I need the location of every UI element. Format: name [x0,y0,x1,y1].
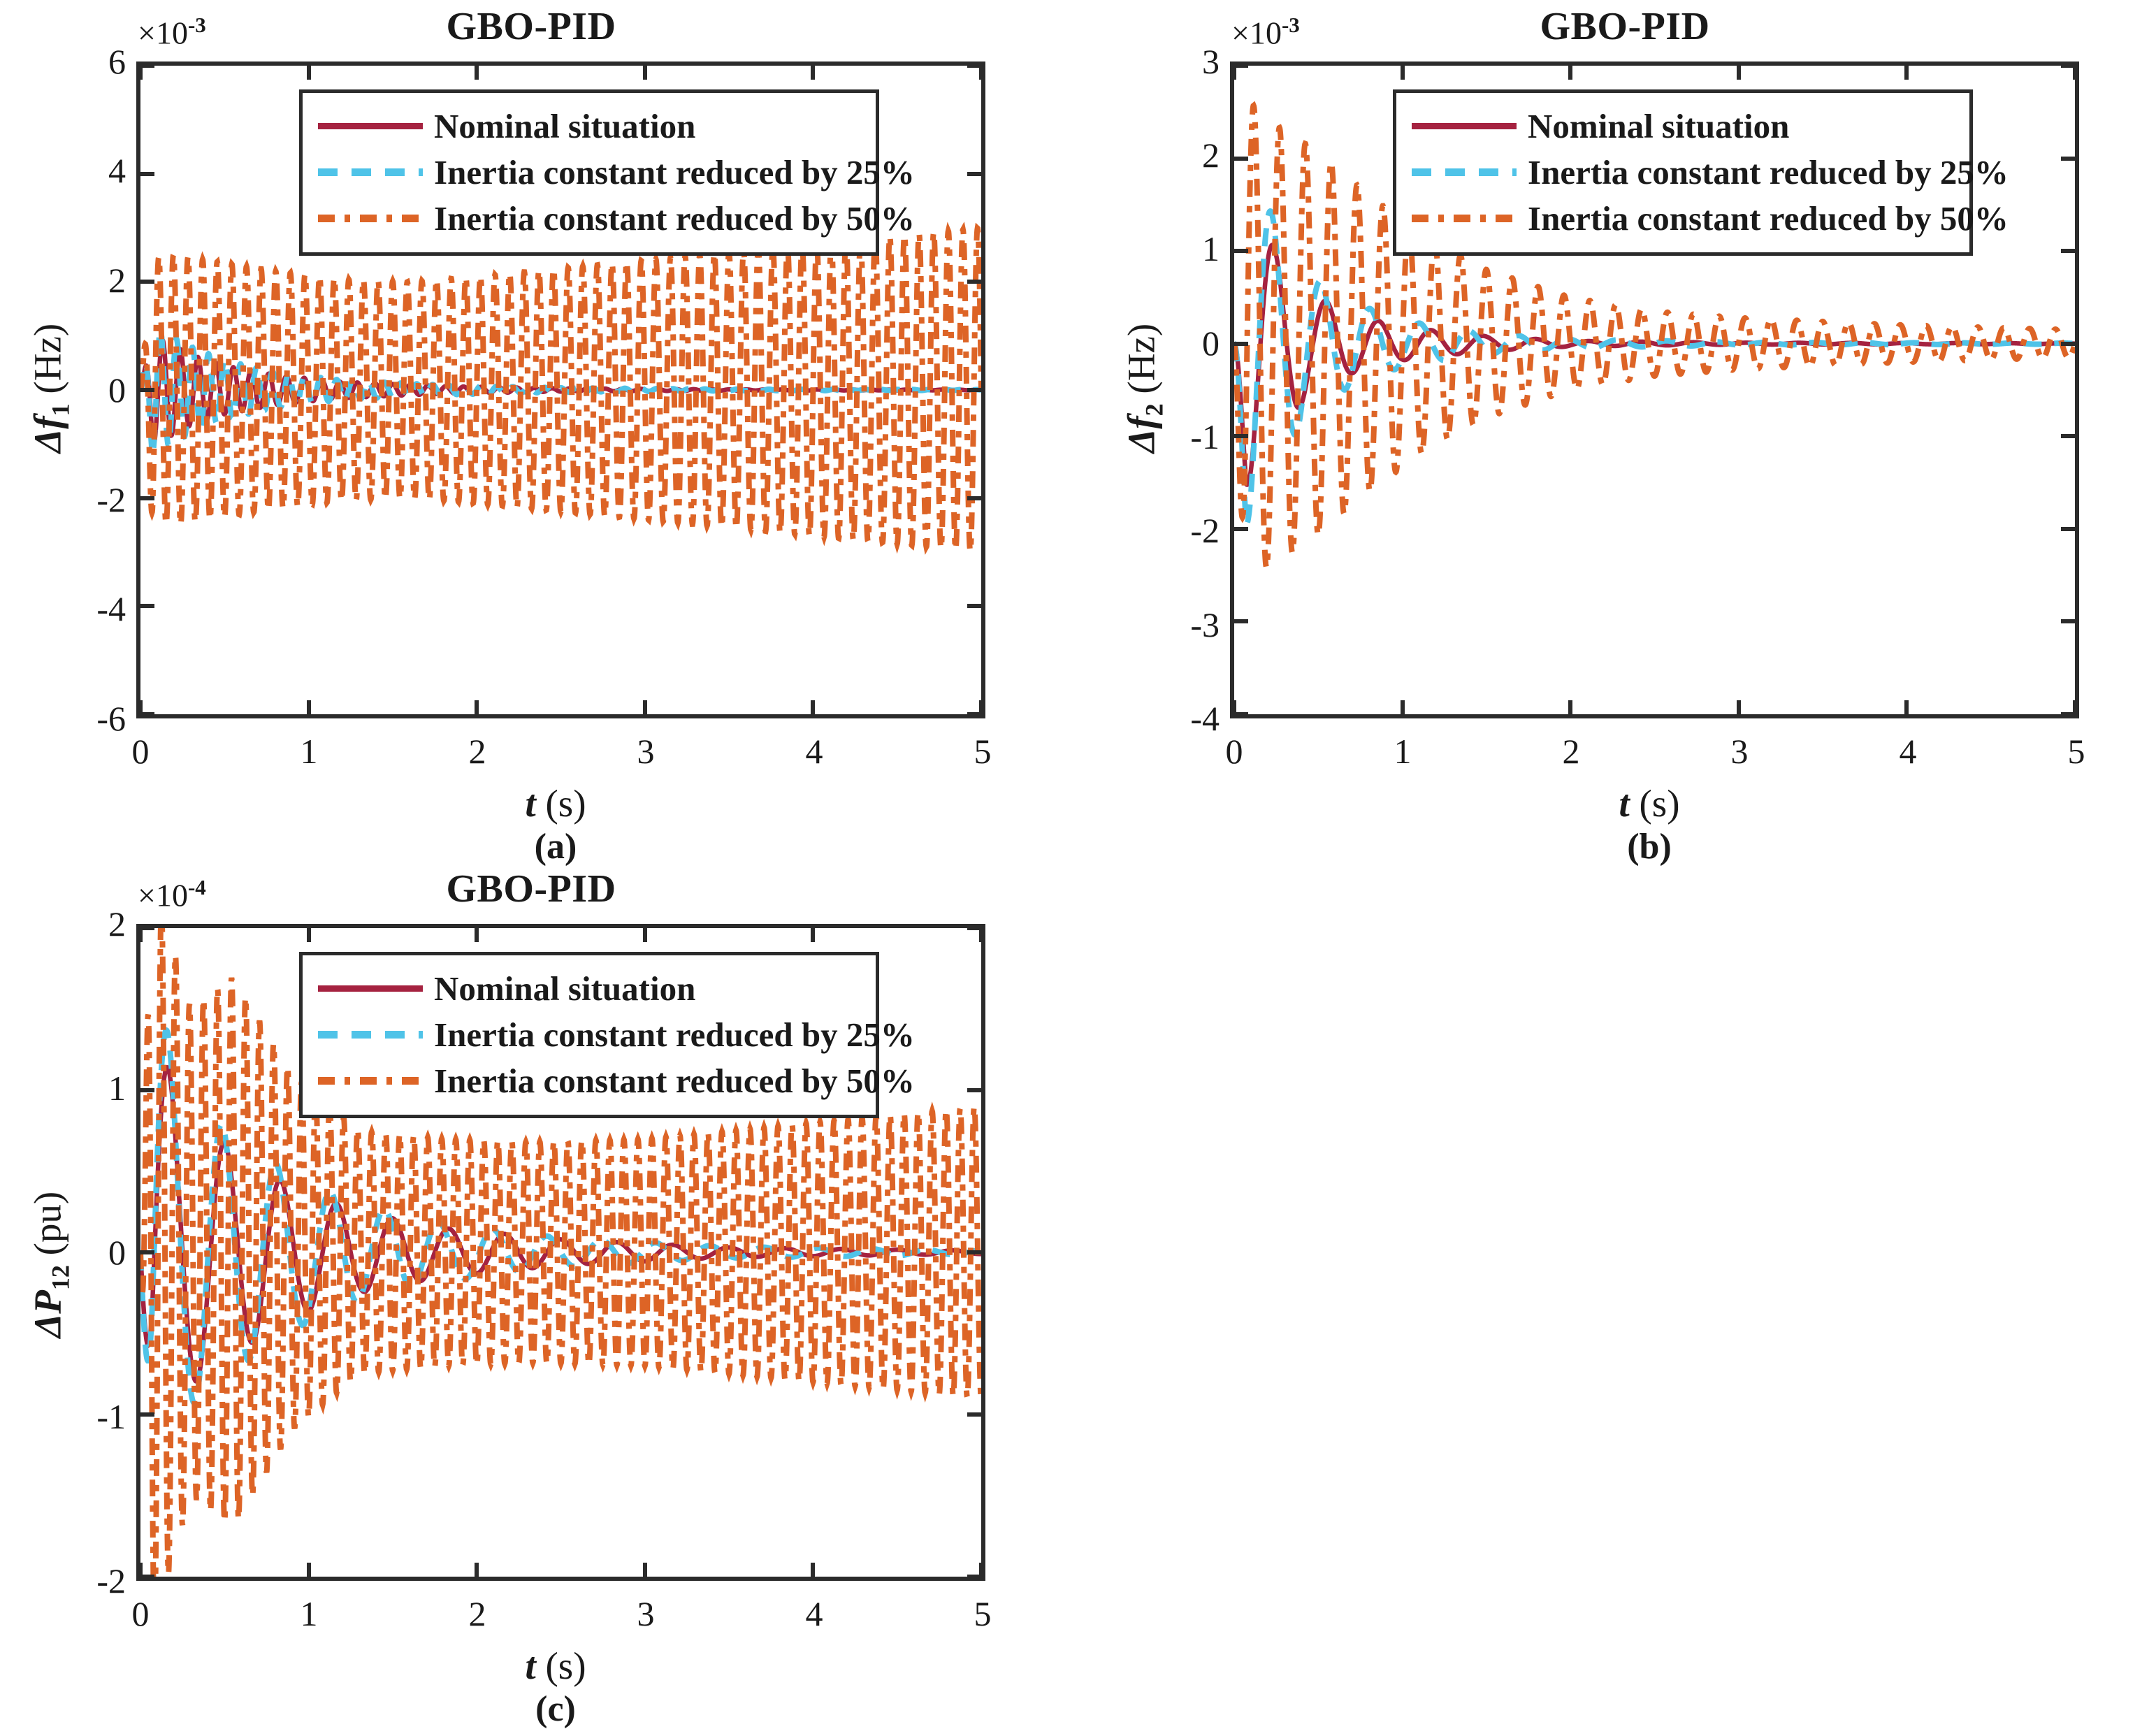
panel-c-exponent: ×10-4 [138,875,206,913]
axis-tick [140,172,154,176]
axis-tick [967,496,981,500]
axis-tick [475,66,479,80]
panel-c-exponent-prefix: ×10 [138,877,188,913]
axis-tick [1234,619,1248,623]
panel-a-xlabel-unit: (s) [545,782,586,825]
panel-c-xlabel: t (s) [119,1644,992,1688]
axis-tick [1232,66,1236,80]
axis-tick [475,700,479,714]
legend-entry: Nominal situation [318,103,860,149]
panel-b-ylabel: Δf2 (Hz) [1120,256,1169,521]
legend-swatch-nominal [318,985,423,992]
panel-a-xtick: 2 [469,731,486,772]
panel-b-ytick: -4 [1094,698,1220,739]
axis-tick [307,1563,311,1577]
panel-c-ylabel-symbol: ΔP [27,1290,69,1338]
panel-a-xtick: 5 [974,731,992,772]
axis-tick [967,1250,981,1254]
axis-tick [967,1575,981,1579]
legend-label: Inertia constant reduced by 25% [1528,155,2009,189]
legend-swatch-inertia-50 [1412,215,1517,222]
axis-tick [140,64,154,68]
axis-tick [967,172,981,176]
panel-c-xtick: 3 [637,1593,655,1634]
panel-a-ylabel-sub: 1 [47,403,75,416]
axis-tick [1904,700,1909,714]
legend-swatch-inertia-50 [318,1077,423,1085]
axis-tick [140,712,154,716]
axis-tick [1234,249,1248,253]
panel-b-exponent-power: -3 [1282,13,1300,37]
panel-c-xtick: 0 [132,1593,150,1634]
panel-b-xlabel-unit: (s) [1639,782,1679,825]
panel-a-xtick: 4 [806,731,823,772]
panel-b-xtick: 3 [1731,731,1749,772]
axis-tick [1401,700,1405,714]
axis-tick [1904,66,1909,80]
panel-a-ylabel-unit: (Hz) [27,324,69,394]
legend-label: Inertia constant reduced by 50% [434,201,915,236]
axis-tick [1401,66,1405,80]
panel-b-exponent-prefix: ×10 [1231,15,1282,50]
panel-a-xlabel-symbol: t [525,782,535,825]
legend-entry: Nominal situation [318,965,860,1011]
panel-b-ylabel-sub: 2 [1141,403,1169,416]
panel-c: GBO-PID ×10-4 2 1 0 -1 -2 0 1 2 3 4 5 ΔP… [0,862,1062,1729]
legend-swatch-inertia-25 [1412,168,1517,176]
axis-tick [2061,64,2075,68]
axis-tick [2061,434,2075,438]
panel-a-xtick: 1 [301,731,318,772]
axis-tick [2061,619,2075,623]
axis-tick [811,928,815,942]
axis-tick [2061,527,2075,531]
legend-entry: Inertia constant reduced by 50% [1412,195,1954,241]
panel-b-caption: (b) [1213,826,2086,867]
axis-tick [2073,66,2077,80]
axis-tick [138,66,143,80]
panel-a-legend: Nominal situation Inertia constant reduc… [299,89,879,256]
axis-tick [140,280,154,284]
axis-tick [1234,157,1248,161]
legend-swatch-inertia-25 [318,168,423,176]
axis-tick [1737,700,1741,714]
legend-label: Inertia constant reduced by 25% [434,155,915,189]
figure-sheet: GBO-PID ×10-3 6 4 2 0 -2 -4 -6 0 1 2 3 4… [0,0,2156,1729]
axis-tick [2061,249,2075,253]
panel-b-xtick: 2 [1563,731,1580,772]
axis-tick [2061,342,2075,346]
axis-tick [140,388,154,392]
legend-label: Inertia constant reduced by 25% [434,1018,915,1052]
axis-tick [140,1088,154,1092]
axis-tick [2061,157,2075,161]
legend-entry: Inertia constant reduced by 50% [318,1057,860,1104]
axis-tick [2061,712,2075,716]
panel-b-xtick: 4 [1900,731,1917,772]
axis-tick [643,928,647,942]
axis-tick [1568,700,1572,714]
legend-label: Nominal situation [434,971,695,1006]
axis-tick [1737,66,1741,80]
legend-swatch-inertia-50 [318,215,423,222]
panel-c-legend: Nominal situation Inertia constant reduc… [299,952,879,1118]
axis-tick [979,928,983,942]
axis-tick [643,66,647,80]
panel-c-exponent-power: -4 [188,875,206,899]
axis-tick [1234,64,1248,68]
axis-tick [140,604,154,608]
panel-b-xtick: 5 [2068,731,2085,772]
panel-a-exponent: ×10-3 [138,13,206,51]
axis-tick [1234,434,1248,438]
panel-c-caption: (c) [119,1688,992,1729]
panel-b-xtick: 0 [1226,731,1243,772]
axis-tick [1234,712,1248,716]
axis-tick [307,66,311,80]
panel-b-ylabel-unit: (Hz) [1120,324,1163,394]
axis-tick [1234,527,1248,531]
legend-entry: Inertia constant reduced by 25% [1412,149,1954,195]
axis-tick [967,926,981,930]
panel-b-legend: Nominal situation Inertia constant reduc… [1393,89,1973,256]
panel-b-xlabel: t (s) [1213,781,2086,825]
axis-tick [140,1250,154,1254]
panel-b-ylabel-symbol: Δf [1120,416,1163,453]
legend-label: Nominal situation [434,109,695,143]
panel-c-xtick: 2 [469,1593,486,1634]
panel-a-ylabel: Δf1 (Hz) [26,256,75,521]
legend-entry: Inertia constant reduced by 50% [318,195,860,241]
axis-tick [138,928,143,942]
axis-tick [475,928,479,942]
panel-a-xtick: 0 [132,731,150,772]
panel-c-ylabel-unit: (pu) [27,1192,69,1256]
axis-tick [475,1563,479,1577]
panel-b-ytick: 3 [1094,41,1220,82]
axis-tick [967,712,981,716]
axis-tick [1234,342,1248,346]
axis-tick [979,66,983,80]
panel-a-xlabel: t (s) [119,781,992,825]
panel-c-xtick: 1 [301,1593,318,1634]
panel-a: GBO-PID ×10-3 6 4 2 0 -2 -4 -6 0 1 2 3 4… [0,0,1062,867]
panel-c-xlabel-unit: (s) [545,1644,586,1687]
panel-c-xtick: 5 [974,1593,992,1634]
legend-label: Nominal situation [1528,109,1789,143]
axis-tick [643,700,647,714]
axis-tick [967,1412,981,1417]
panel-b-xtick: 1 [1394,731,1412,772]
panel-a-ytick: 6 [0,41,126,82]
panel-a-xtick: 3 [637,731,655,772]
panel-c-xtick: 4 [806,1593,823,1634]
panel-a-ytick: 4 [0,150,126,191]
axis-tick [140,926,154,930]
panel-c-ytick: -2 [0,1561,126,1601]
panel-c-ytick: 2 [0,904,126,944]
panel-b-ytick: 2 [1094,135,1220,175]
panel-a-ytick: -6 [0,698,126,739]
panel-a-ytick: -4 [0,588,126,629]
axis-tick [140,496,154,500]
panel-b-ytick: -3 [1094,605,1220,645]
axis-tick [967,64,981,68]
panel-b-xlabel-symbol: t [1619,782,1629,825]
panel-b-exponent: ×10-3 [1231,13,1300,51]
legend-label: Inertia constant reduced by 50% [1528,201,2009,236]
axis-tick [643,1563,647,1577]
panel-b: GBO-PID ×10-3 3 2 1 0 -1 -2 -3 -4 0 1 2 … [1094,0,2156,867]
legend-label: Inertia constant reduced by 50% [434,1064,915,1098]
legend-swatch-nominal [1412,123,1517,129]
axis-tick [307,700,311,714]
axis-tick [1568,66,1572,80]
axis-tick [811,1563,815,1577]
axis-tick [140,1575,154,1579]
panel-c-ylabel: ΔP12 (pu) [26,1118,75,1412]
axis-tick [967,1088,981,1092]
axis-tick [811,66,815,80]
legend-entry: Nominal situation [1412,103,1954,149]
axis-tick [967,604,981,608]
panel-a-exponent-prefix: ×10 [138,15,188,50]
legend-swatch-nominal [318,123,423,129]
axis-tick [967,280,981,284]
panel-a-caption: (a) [119,826,992,867]
panel-c-ytick: 1 [0,1068,126,1108]
legend-swatch-inertia-25 [318,1031,423,1039]
axis-tick [307,928,311,942]
legend-entry: Inertia constant reduced by 25% [318,1011,860,1057]
panel-a-exponent-power: -3 [188,13,206,37]
panel-c-xlabel-symbol: t [525,1644,535,1687]
panel-c-ylabel-sub: 12 [47,1265,75,1290]
legend-entry: Inertia constant reduced by 25% [318,149,860,195]
panel-a-ylabel-symbol: Δf [27,416,69,453]
axis-tick [811,700,815,714]
axis-tick [140,1412,154,1417]
axis-tick [967,388,981,392]
